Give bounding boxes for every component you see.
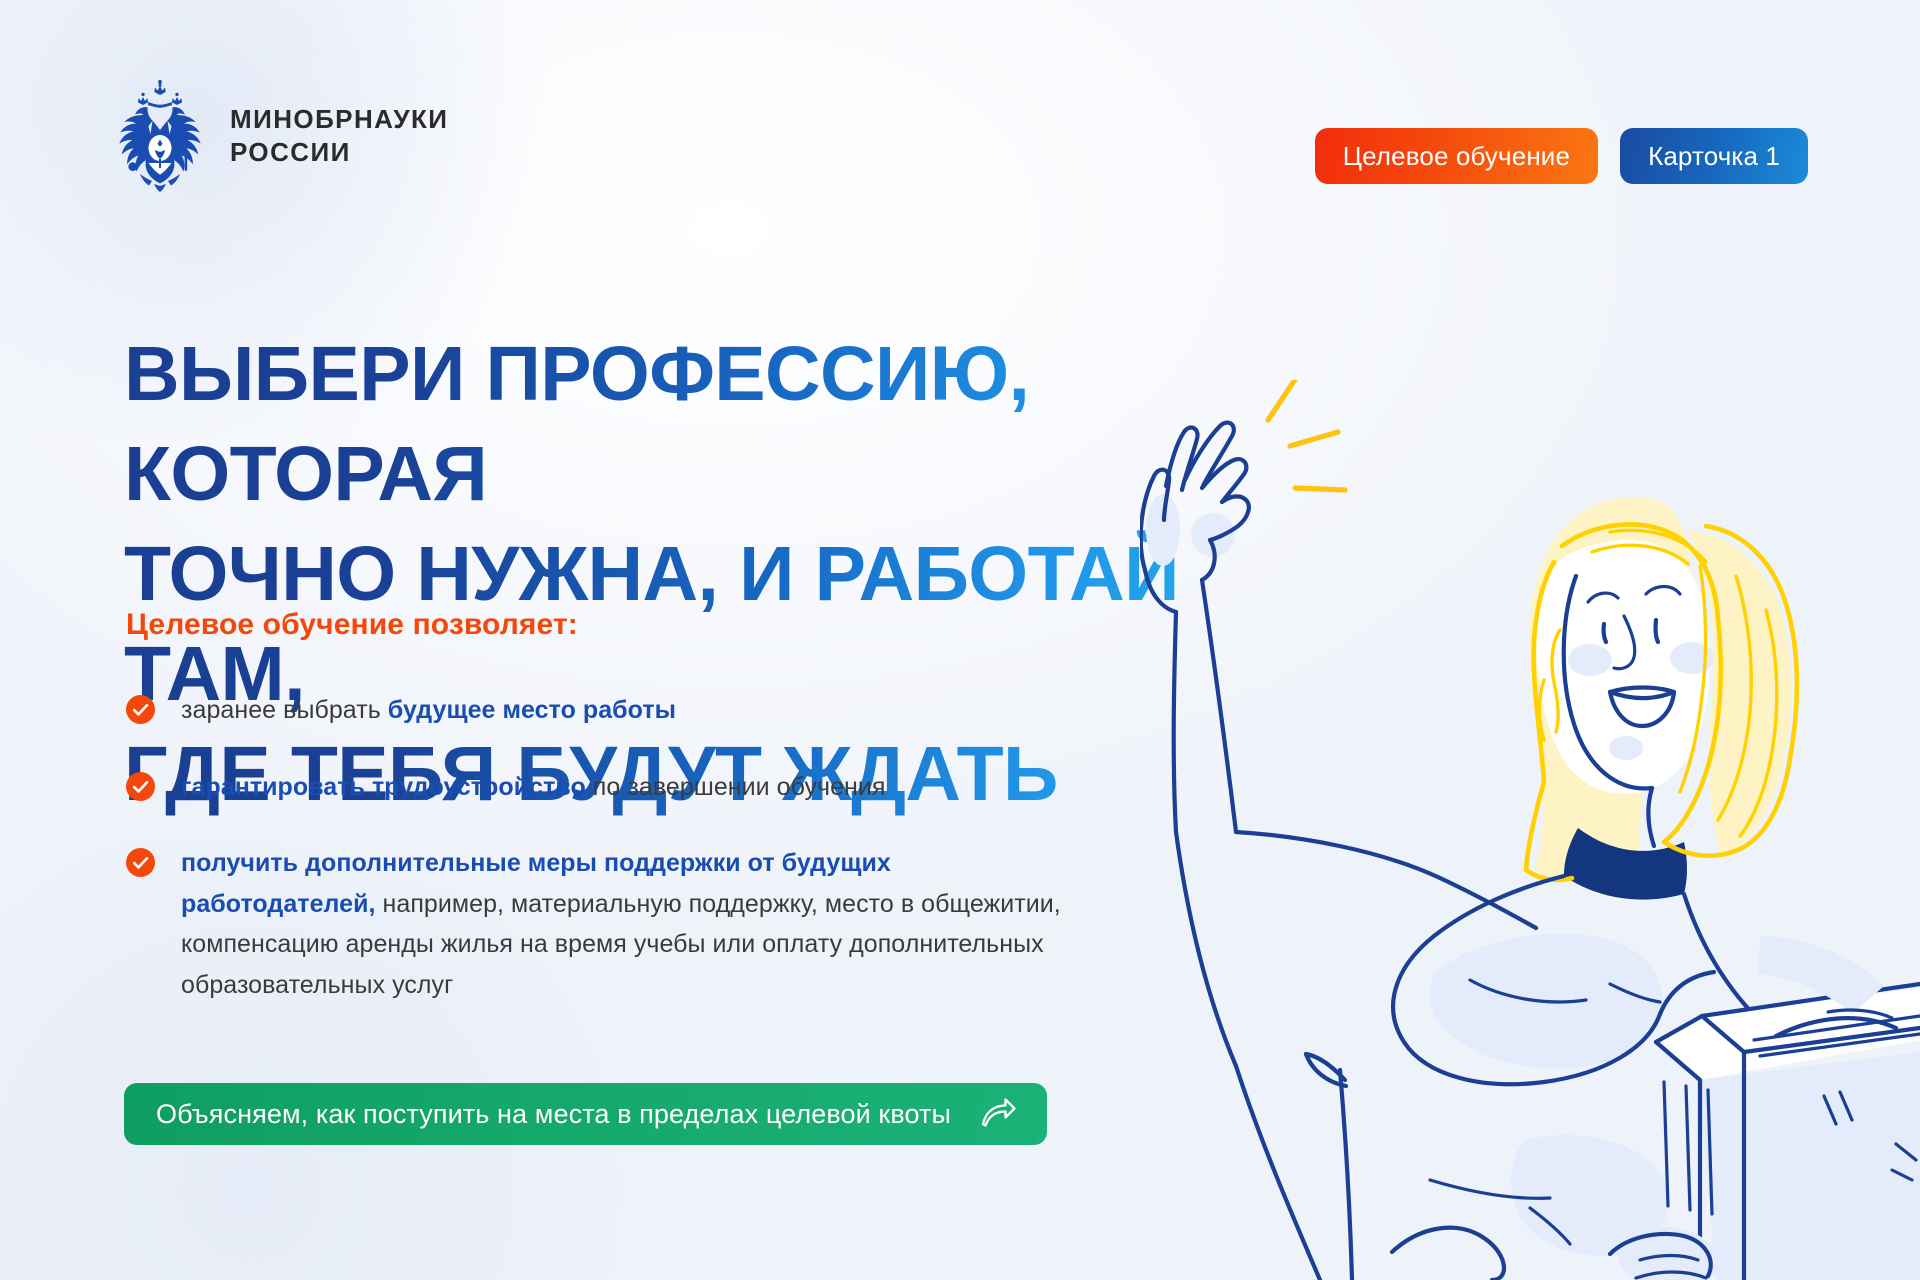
list-item-text-plain-1: по завершении обучения bbox=[586, 773, 886, 801]
cta-banner[interactable]: Объясняем, как поступить на места в пред… bbox=[124, 1083, 1047, 1145]
hand-on-box-top bbox=[1758, 936, 1896, 1036]
background-tint-bottom-right bbox=[1340, 940, 1920, 1280]
badge-card-number[interactable]: Карточка 1 bbox=[1620, 128, 1808, 184]
benefits-list: заранее выбрать будущее место работы гар… bbox=[126, 690, 1086, 1005]
list-item-text: получить дополнительные меры поддержки о… bbox=[181, 843, 1086, 1005]
check-circle-icon bbox=[126, 772, 155, 801]
badge-target-education[interactable]: Целевое обучение bbox=[1315, 128, 1598, 184]
torso bbox=[1176, 832, 1776, 1280]
list-item-text-bold-1: гарантировать трудоустройство bbox=[181, 773, 586, 801]
sub-heading: Целевое обучение позволяет: bbox=[126, 608, 578, 642]
list-item-text-plain-0: заранее выбрать bbox=[181, 696, 388, 724]
list-item: получить дополнительные меры поддержки о… bbox=[126, 843, 1086, 1005]
russian-coat-of-arms-icon bbox=[112, 80, 208, 192]
check-circle-icon bbox=[126, 695, 155, 724]
check-circle-icon bbox=[126, 848, 155, 877]
list-item-text-bold-0: будущее место работы bbox=[388, 696, 676, 724]
list-item: заранее выбрать будущее место работы bbox=[126, 690, 1086, 731]
list-item-text: заранее выбрать будущее место работы bbox=[181, 690, 676, 731]
brand-name: МИНОБРНАУКИ РОССИИ bbox=[230, 103, 448, 170]
head-and-face bbox=[1536, 540, 1714, 900]
cta-label: Объясняем, как поступить на места в пред… bbox=[156, 1099, 951, 1130]
brand-lockup: МИНОБРНАУКИ РОССИИ bbox=[112, 80, 448, 192]
hair-strands bbox=[1526, 524, 1797, 879]
hand-holding-box bbox=[1610, 1227, 1719, 1280]
swipe-arrow-icon bbox=[979, 1097, 1017, 1131]
list-item-text: гарантировать трудоустройство по заверше… bbox=[181, 767, 886, 808]
cardboard-box bbox=[1656, 984, 1920, 1280]
list-item: гарантировать трудоустройство по заверше… bbox=[126, 767, 1086, 808]
badge-group: Целевое обучение Карточка 1 bbox=[1315, 128, 1808, 184]
poster-root: МИНОБРНАУКИ РОССИИ Целевое обучение Карт… bbox=[0, 0, 1920, 1280]
